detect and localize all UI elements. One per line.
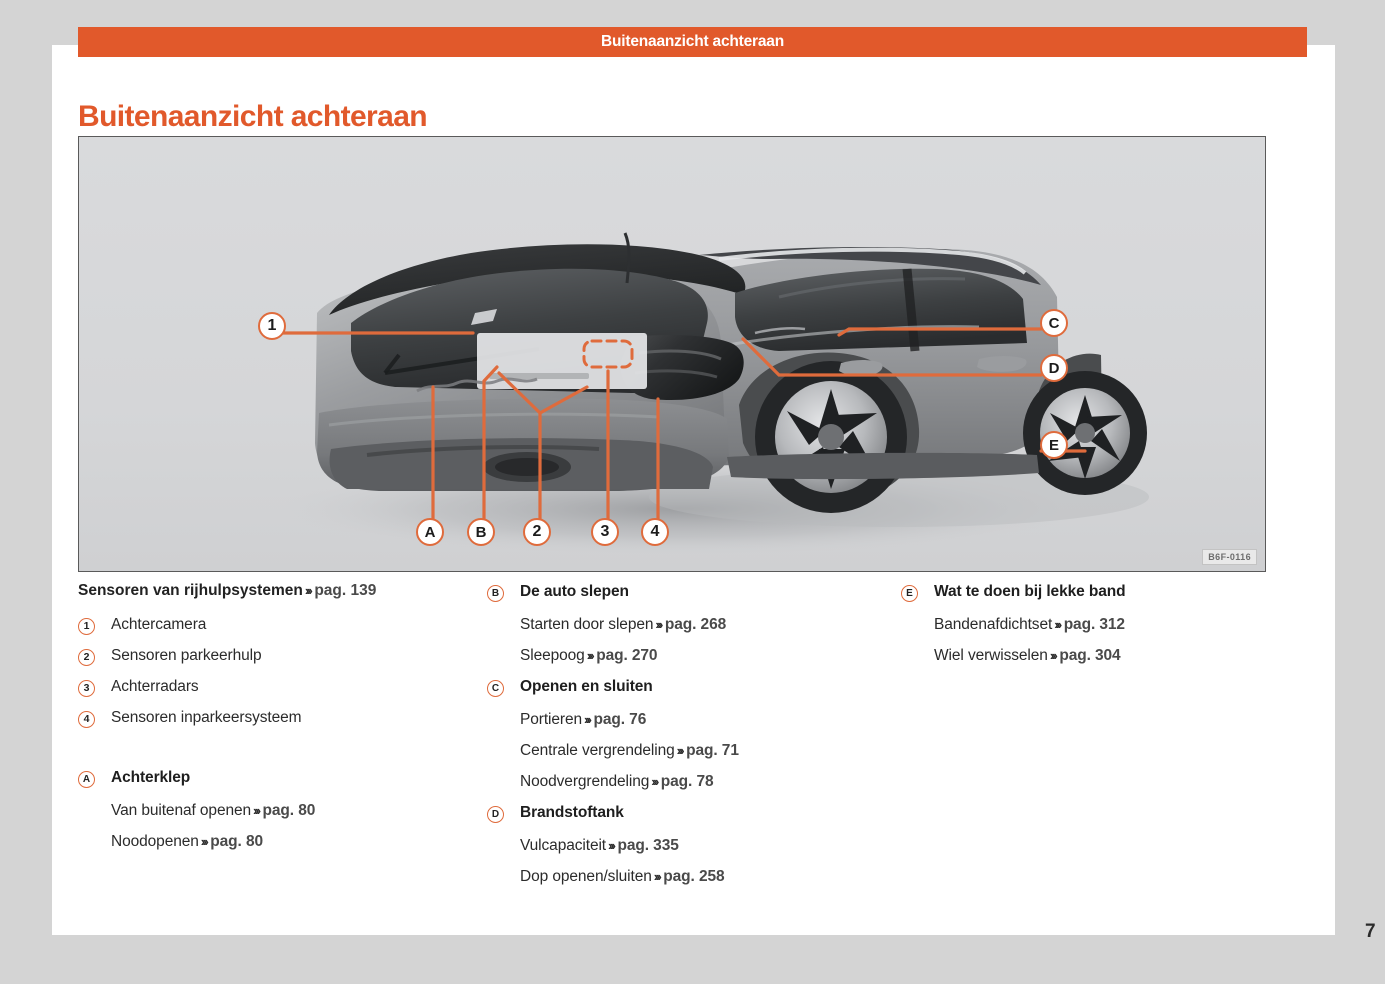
- legend-item-2[interactable]: 2 Sensoren parkeerhulp: [78, 647, 487, 667]
- legend-group-heading-brandstoftank[interactable]: D Brandstoftank: [487, 804, 901, 824]
- legend-subitem-ref: pag. 304: [1059, 647, 1120, 664]
- legend-subitem-label: Bandenafdichtset: [934, 616, 1052, 633]
- chevron-icon: ›››: [652, 869, 664, 884]
- page-number: 7: [1365, 921, 1376, 943]
- legend-column-middle: B De auto slepen Starten door slepen›››p…: [487, 583, 901, 899]
- legend-group-ref: pag. 139: [314, 582, 376, 599]
- legend-group-heading-openen[interactable]: C Openen en sluiten: [487, 678, 901, 698]
- callout-2[interactable]: 2: [523, 518, 551, 546]
- callout-1[interactable]: 1: [258, 312, 286, 340]
- illustration-watermark: B6F-0116: [1202, 549, 1257, 565]
- legend-subitem-label: Dop openen/sluiten: [520, 868, 652, 885]
- legend-subitem-label: Van buitenaf openen: [111, 802, 251, 819]
- legend-item-label: Achtercamera: [111, 616, 206, 634]
- chevron-icon: ›››: [251, 803, 263, 818]
- callout-a[interactable]: A: [416, 518, 444, 546]
- chevron-icon: ›››: [675, 743, 687, 758]
- legend-item-1[interactable]: 1 Achtercamera: [78, 616, 487, 636]
- legend-subitem[interactable]: Bandenafdichtset›››pag. 312: [901, 616, 1307, 636]
- legend-group-heading-sensors: Sensoren van rijhulpsystemen›››pag. 139: [78, 583, 487, 599]
- legend-subitem-label: Wiel verwisselen: [934, 647, 1048, 664]
- chevron-icon: ›››: [1052, 617, 1064, 632]
- legend-group-heading-text: Achterklep: [111, 769, 190, 787]
- callout-d[interactable]: D: [1040, 354, 1068, 382]
- badge-2: 2: [78, 649, 95, 666]
- legend-subitem-ref: pag. 270: [596, 647, 657, 664]
- legend-group-heading-text: Sensoren van rijhulpsystemen: [78, 582, 303, 599]
- legend-subitem-ref: pag. 312: [1064, 616, 1125, 633]
- legend-subitem-ref: pag. 268: [665, 616, 726, 633]
- legend-subitem-label: Noodvergrendeling: [520, 773, 649, 790]
- chevron-icon: ›››: [1048, 648, 1060, 663]
- badge-c: C: [487, 680, 504, 697]
- chevron-icon: ›››: [199, 834, 211, 849]
- legend-group-heading-text: Brandstoftank: [520, 804, 624, 822]
- badge-1: 1: [78, 618, 95, 635]
- legend-subitem[interactable]: Portieren›››pag. 76: [487, 711, 901, 731]
- legend-subitem-label: Centrale vergrendeling: [520, 742, 675, 759]
- badge-4: 4: [78, 711, 95, 728]
- chevron-icon: ›››: [585, 648, 597, 663]
- legend-column-left: Sensoren van rijhulpsystemen›››pag. 139 …: [78, 583, 487, 899]
- chevron-icon: ›››: [649, 774, 661, 789]
- legend-subitem[interactable]: Centrale vergrendeling›››pag. 71: [487, 742, 901, 762]
- legend-subitem-label: Portieren: [520, 711, 582, 728]
- legend-group-heading-text: Wat te doen bij lekke band: [934, 583, 1125, 601]
- legend-group-heading-text: De auto slepen: [520, 583, 629, 601]
- legend-subitem-ref: pag. 71: [686, 742, 739, 759]
- legend-subitem-ref: pag. 80: [263, 802, 316, 819]
- chevron-icon: ›››: [653, 617, 665, 632]
- legend-subitem-ref: pag. 258: [663, 868, 724, 885]
- running-header-bar: Buitenaanzicht achteraan: [78, 27, 1307, 57]
- page-title: Buitenaanzicht achteraan: [78, 100, 427, 134]
- legend-subitem[interactable]: Starten door slepen›››pag. 268: [487, 616, 901, 636]
- running-header-title: Buitenaanzicht achteraan: [601, 33, 784, 51]
- legend-subitem[interactable]: Noodopenen›››pag. 80: [78, 833, 487, 853]
- legend-group-spacer: [78, 740, 487, 769]
- callout-c[interactable]: C: [1040, 309, 1068, 337]
- legend-subitem-ref: pag. 80: [210, 833, 263, 850]
- chevron-icon: ›››: [606, 838, 618, 853]
- legend-subitem[interactable]: Vulcapaciteit›››pag. 335: [487, 837, 901, 857]
- legend-group-heading-text: Openen en sluiten: [520, 678, 653, 696]
- legend-column-right: E Wat te doen bij lekke band Bandenafdic…: [901, 583, 1307, 899]
- legend-group-heading-achterklep[interactable]: A Achterklep: [78, 769, 487, 789]
- legend-subitem-label: Noodopenen: [111, 833, 199, 850]
- chevron-icon: ›››: [303, 583, 315, 598]
- badge-a: A: [78, 771, 95, 788]
- callout-e[interactable]: E: [1040, 431, 1068, 459]
- legend-item-label: Achterradars: [111, 678, 199, 696]
- legend-subitem-ref: pag. 335: [618, 837, 679, 854]
- legend-subitem[interactable]: Van buitenaf openen›››pag. 80: [78, 802, 487, 822]
- legend-columns: Sensoren van rijhulpsystemen›››pag. 139 …: [78, 583, 1307, 899]
- legend-subitem[interactable]: Sleepoog›››pag. 270: [487, 647, 901, 667]
- callout-3[interactable]: 3: [591, 518, 619, 546]
- legend-item-label: Sensoren parkeerhulp: [111, 647, 262, 665]
- callout-b[interactable]: B: [467, 518, 495, 546]
- badge-b: B: [487, 585, 504, 602]
- badge-d: D: [487, 806, 504, 823]
- legend-subitem[interactable]: Dop openen/sluiten›››pag. 258: [487, 868, 901, 888]
- chevron-icon: ›››: [582, 712, 594, 727]
- legend-subitem-ref: pag. 76: [594, 711, 647, 728]
- legend-group-heading-slepen[interactable]: B De auto slepen: [487, 583, 901, 603]
- legend-item-4[interactable]: 4 Sensoren inparkeersysteem: [78, 709, 487, 729]
- badge-e: E: [901, 585, 918, 602]
- legend-subitem-label: Starten door slepen: [520, 616, 653, 633]
- legend-subitem-ref: pag. 78: [661, 773, 714, 790]
- legend-subitem[interactable]: Wiel verwisselen›››pag. 304: [901, 647, 1307, 667]
- callout-4[interactable]: 4: [641, 518, 669, 546]
- legend-group-heading-lekke-band[interactable]: E Wat te doen bij lekke band: [901, 583, 1307, 603]
- legend-item-label: Sensoren inparkeersysteem: [111, 709, 302, 727]
- legend-subitem-label: Vulcapaciteit: [520, 837, 606, 854]
- badge-3: 3: [78, 680, 95, 697]
- legend-item-3[interactable]: 3 Achterradars: [78, 678, 487, 698]
- legend-subitem-label: Sleepoog: [520, 647, 585, 664]
- illustration-frame: B6F-0116: [78, 136, 1266, 572]
- car-illustration: [79, 137, 1265, 571]
- legend-subitem[interactable]: Noodvergrendeling›››pag. 78: [487, 773, 901, 793]
